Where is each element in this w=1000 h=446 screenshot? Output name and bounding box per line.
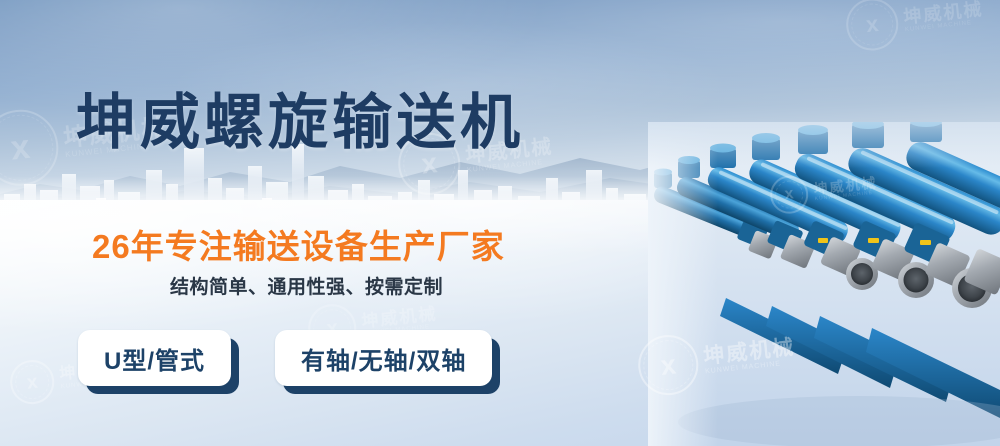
screw-conveyor-product-photo	[648, 122, 1000, 446]
banner-title: 坤威螺旋输送机	[76, 74, 524, 161]
button-wrap-shaft: 有轴/无轴/双轴	[275, 330, 492, 386]
banner-subline: 结构简单、通用性强、按需定制	[170, 272, 443, 299]
banner-button-group: U型/管式 有轴/无轴/双轴	[78, 330, 492, 386]
button-u-type-tubular[interactable]: U型/管式	[78, 330, 231, 386]
button-wrap-type: U型/管式	[78, 330, 231, 386]
promo-banner: x 坤威机械 KUNWEI MACHINE x 坤威机械 KUNWEI MACH…	[0, 0, 1000, 446]
banner-headline: 26年专注输送设备生产厂家	[92, 220, 505, 268]
button-shaft-options[interactable]: 有轴/无轴/双轴	[275, 330, 492, 386]
